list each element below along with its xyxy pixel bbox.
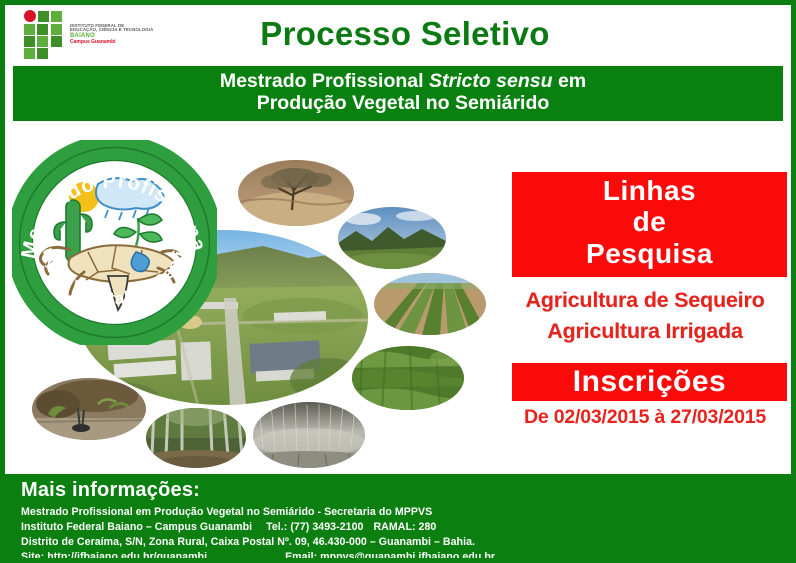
photo-mountain-landscape	[338, 207, 446, 269]
photo-sprinkler-irrigation	[253, 402, 365, 468]
subtitle-text: Mestrado Profissional Stricto sensu em P…	[133, 70, 673, 115]
page-title: Processo Seletivo	[140, 15, 670, 53]
photo-dry-caatinga-tree	[238, 160, 354, 226]
research-line-item: Agricultura Irrigada	[497, 316, 793, 347]
photo-eucalyptus-grove	[146, 408, 246, 468]
footer-line-institution: Instituto Federal Baiano – Campus Guanam…	[21, 520, 791, 535]
subtitle-part2: em	[553, 70, 587, 92]
photo-dry-caatinga-tree-image	[238, 160, 354, 226]
photo-irrigated-rows-image	[374, 273, 486, 335]
registration-label-box: Inscrições	[512, 363, 787, 401]
subtitle-part1: Mestrado Profissional	[220, 70, 429, 92]
research-box-line1: Linhas	[512, 175, 787, 206]
footer-contact-block: Mais informações: Mestrado Profissional …	[5, 474, 791, 558]
footer-institution: Instituto Federal Baiano – Campus Guanam…	[21, 521, 252, 533]
footer-title: Mais informações:	[21, 479, 791, 502]
research-lines-box: Linhas de Pesquisa	[512, 172, 787, 277]
ifbaiano-logo-mark	[18, 10, 66, 58]
photo-green-crop-field	[352, 346, 464, 410]
photo-eucalyptus-grove-image	[146, 408, 246, 468]
program-seal-graphic: Mestrado Profissional Produção Vegetal n…	[12, 140, 217, 345]
footer-line-program: Mestrado Profissional em Produção Vegeta…	[21, 505, 791, 520]
photo-mountain-landscape-image	[338, 207, 446, 269]
ifbaiano-logo-line4: Campus Guanambi	[70, 40, 148, 45]
photo-green-crop-field-image	[352, 346, 464, 410]
registration-period: De 02/03/2015 à 27/03/2015	[497, 406, 793, 429]
photo-irrigated-rows	[374, 273, 486, 335]
ifbaiano-logo: INSTITUTO FEDERAL DE EDUCAÇÃO, CIÊNCIA E…	[18, 8, 146, 60]
footer-extension: RAMAL: 280	[373, 521, 436, 533]
subtitle-banner: Mestrado Profissional Stricto sensu em P…	[13, 66, 783, 121]
photo-drip-irrigation-image	[32, 378, 146, 440]
research-box-line3: Pesquisa	[512, 238, 787, 269]
photo-sprinkler-irrigation-image	[253, 402, 365, 468]
footer-line-web: Site: http://ifbaiano.edu.br/guanambiEma…	[21, 550, 791, 563]
poster-canvas: INSTITUTO FEDERAL DE EDUCAÇÃO, CIÊNCIA E…	[0, 0, 796, 563]
footer-line-address: Distrito de Ceraíma, S/N, Zona Rural, Ca…	[21, 535, 791, 550]
photo-drip-irrigation	[32, 378, 146, 440]
research-line-item: Agricultura de Sequeiro	[497, 285, 793, 316]
research-box-line2: de	[512, 206, 787, 237]
program-seal-logo: Mestrado Profissional Produção Vegetal n…	[12, 140, 217, 345]
ifbaiano-logo-line2: EDUCAÇÃO, CIÊNCIA E TECNOLOGIA	[70, 28, 148, 32]
footer-email[interactable]: Email: mppvs@guanambi.ifbaiano.edu.br	[285, 551, 495, 563]
footer-phone: Tel.: (77) 3493-2100	[266, 521, 363, 533]
subtitle-italic: Stricto sensu	[429, 70, 553, 92]
footer-site[interactable]: Site: http://ifbaiano.edu.br/guanambi	[21, 551, 207, 563]
subtitle-line2: Produção Vegetal no Semiárido	[257, 92, 550, 114]
research-lines-list: Agricultura de Sequeiro Agricultura Irri…	[497, 285, 793, 347]
